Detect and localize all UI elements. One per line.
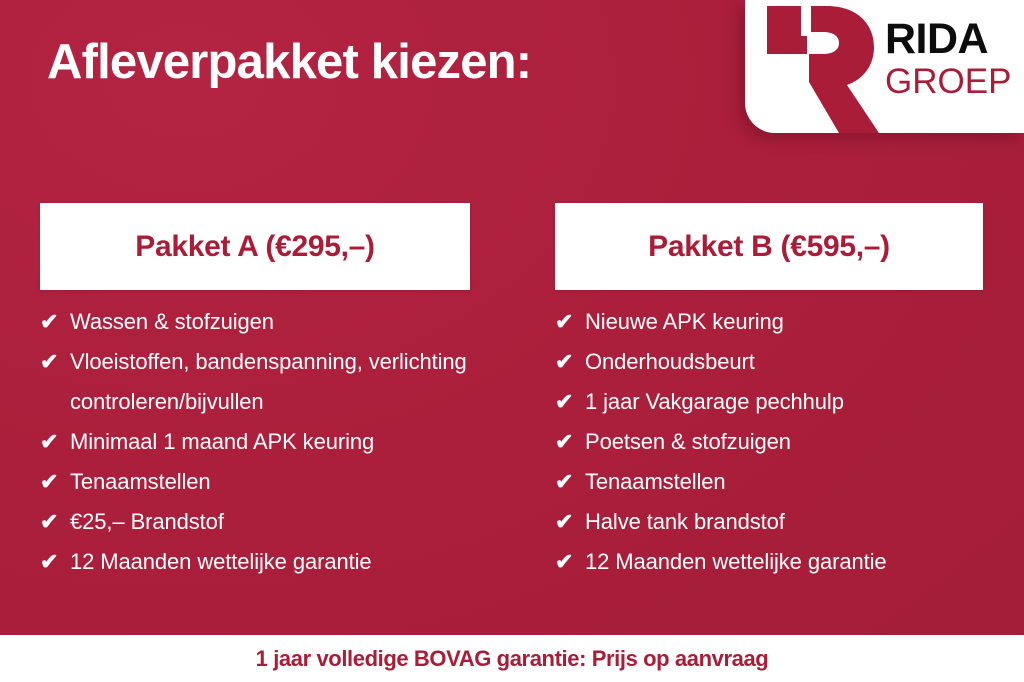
list-item: ✔ Poetsen & stofzuigen bbox=[555, 422, 983, 462]
check-icon: ✔ bbox=[555, 502, 585, 542]
package-b-feature-list: ✔ Nieuwe APK keuring ✔ Onderhoudsbeurt ✔… bbox=[555, 302, 983, 582]
check-icon: ✔ bbox=[555, 342, 585, 382]
feature-label: Wassen & stofzuigen bbox=[70, 302, 470, 342]
check-icon: ✔ bbox=[555, 382, 585, 422]
rida-groep-logo-panel: RIDA GROEP bbox=[745, 0, 1024, 133]
package-b-title: Pakket B (€595,–) bbox=[648, 230, 890, 264]
list-item: ✔ Minimaal 1 maand APK keuring bbox=[40, 422, 470, 462]
package-card-a[interactable]: Pakket A (€295,–) ✔ Wassen & stofzuigen … bbox=[40, 203, 470, 582]
list-item: ✔ 12 Maanden wettelijke garantie bbox=[555, 542, 983, 582]
feature-label: 12 Maanden wettelijke garantie bbox=[585, 542, 983, 582]
check-icon: ✔ bbox=[40, 302, 70, 342]
check-icon: ✔ bbox=[555, 302, 585, 342]
feature-label: Poetsen & stofzuigen bbox=[585, 422, 983, 462]
feature-label: 1 jaar Vakgarage pechhulp bbox=[585, 382, 983, 422]
check-icon: ✔ bbox=[555, 542, 585, 582]
list-item: ✔ Wassen & stofzuigen bbox=[40, 302, 470, 342]
package-a-header: Pakket A (€295,–) bbox=[40, 203, 470, 290]
page-title: Afleverpakket kiezen: bbox=[47, 34, 531, 90]
check-icon: ✔ bbox=[555, 462, 585, 502]
package-a-feature-list: ✔ Wassen & stofzuigen ✔ Vloeistoffen, ba… bbox=[40, 302, 470, 582]
feature-label: Nieuwe APK keuring bbox=[585, 302, 983, 342]
list-item: ✔ Nieuwe APK keuring bbox=[555, 302, 983, 342]
check-icon: ✔ bbox=[555, 422, 585, 462]
feature-label: Tenaamstellen bbox=[585, 462, 983, 502]
logo-name-primary: RIDA bbox=[885, 18, 1015, 61]
package-b-header: Pakket B (€595,–) bbox=[555, 203, 983, 290]
check-icon: ✔ bbox=[40, 502, 70, 542]
feature-label: Vloeistoffen, bandenspanning, verlichtin… bbox=[70, 342, 470, 422]
logo-name-secondary: GROEP bbox=[885, 64, 1015, 101]
check-icon: ✔ bbox=[40, 342, 70, 382]
list-item: ✔ Onderhoudsbeurt bbox=[555, 342, 983, 382]
list-item: ✔ 12 Maanden wettelijke garantie bbox=[40, 542, 470, 582]
feature-label: Halve tank brandstof bbox=[585, 502, 983, 542]
feature-label: Onderhoudsbeurt bbox=[585, 342, 983, 382]
list-item: ✔ Tenaamstellen bbox=[555, 462, 983, 502]
footer-guarantee-text: 1 jaar volledige BOVAG garantie: Prijs o… bbox=[256, 646, 769, 672]
check-icon: ✔ bbox=[40, 542, 70, 582]
feature-label: Minimaal 1 maand APK keuring bbox=[70, 422, 470, 462]
feature-label: 12 Maanden wettelijke garantie bbox=[70, 542, 470, 582]
package-card-b[interactable]: Pakket B (€595,–) ✔ Nieuwe APK keuring ✔… bbox=[555, 203, 983, 582]
feature-label: €25,– Brandstof bbox=[70, 502, 470, 542]
list-item: ✔ Halve tank brandstof bbox=[555, 502, 983, 542]
check-icon: ✔ bbox=[40, 462, 70, 502]
list-item: ✔ Tenaamstellen bbox=[40, 462, 470, 502]
package-a-title: Pakket A (€295,–) bbox=[135, 230, 375, 264]
rida-r-monogram-icon bbox=[761, 2, 883, 133]
footer-bar: 1 jaar volledige BOVAG garantie: Prijs o… bbox=[0, 635, 1024, 682]
feature-label: Tenaamstellen bbox=[70, 462, 470, 502]
list-item: ✔ Vloeistoffen, bandenspanning, verlicht… bbox=[40, 342, 470, 422]
check-icon: ✔ bbox=[40, 422, 70, 462]
logo-wordmark: RIDA GROEP bbox=[885, 18, 1015, 101]
afleverpakket-poster: Afleverpakket kiezen: RIDA GROEP Pakket … bbox=[0, 0, 1024, 682]
list-item: ✔ 1 jaar Vakgarage pechhulp bbox=[555, 382, 983, 422]
list-item: ✔ €25,– Brandstof bbox=[40, 502, 470, 542]
